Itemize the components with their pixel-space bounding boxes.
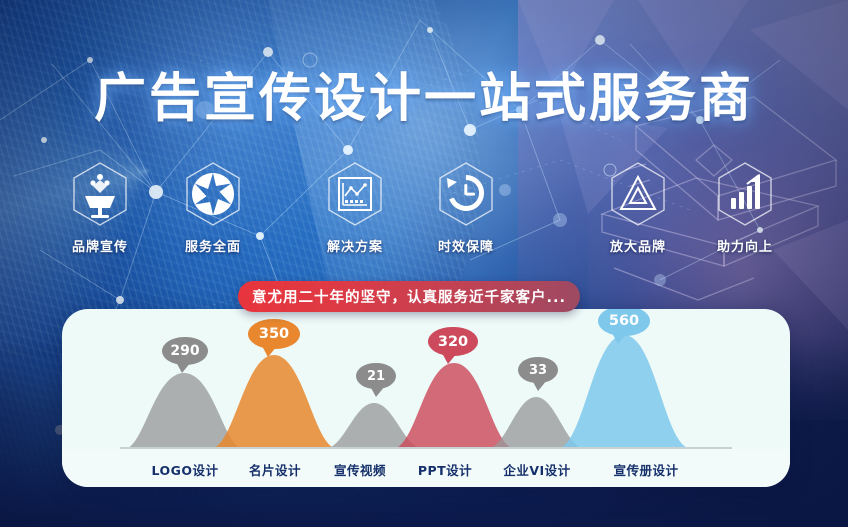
clock-history-icon [435, 160, 497, 228]
area-3 [392, 363, 516, 449]
feature-item-full-service[interactable]: 服务全面 [158, 160, 268, 255]
bar-growth-icon [714, 160, 776, 228]
feature-label: 品牌宣传 [45, 236, 155, 255]
area-5 [556, 335, 692, 449]
feature-label: 解决方案 [300, 236, 410, 255]
value-bubble-0: 290 [162, 337, 208, 365]
feature-item-growth-support[interactable]: 助力向上 [690, 160, 800, 255]
value-bubble-2: 21 [356, 363, 396, 389]
aperture-icon [182, 160, 244, 228]
feature-item-timeliness[interactable]: 时效保障 [411, 160, 521, 255]
feature-row: 品牌宣传 服务全面 [0, 160, 848, 250]
category-label-5: 宣传册设计 [586, 460, 706, 479]
area-1 [210, 355, 338, 449]
feature-item-amplify-brand[interactable]: 放大品牌 [583, 160, 693, 255]
category-label-0: LOGO设计 [140, 460, 230, 479]
line-chart-icon [324, 160, 386, 228]
feature-label: 服务全面 [158, 236, 268, 255]
page-title: 广告宣传设计一站式服务商 [0, 56, 848, 131]
value-bubble-3: 320 [428, 327, 478, 356]
category-label-2: 宣传视频 [315, 460, 405, 479]
feature-item-brand-promotion[interactable]: 品牌宣传 [45, 160, 155, 255]
category-label-strip: LOGO设计 名片设计 宣传视频 PPT设计 企业VI设计 宣传册设计 [62, 449, 790, 487]
feature-label: 助力向上 [690, 236, 800, 255]
triangle-icon [607, 160, 669, 228]
value-bubble-1: 350 [248, 319, 300, 349]
value-bubble-4: 33 [518, 357, 558, 383]
category-label-3: PPT设计 [400, 460, 490, 479]
feature-label: 时效保障 [411, 236, 521, 255]
chart-card: 290 350 21 320 33 560 LOGO设计 名片设计 宣传视频 P… [62, 309, 790, 487]
bell-curve-areas [62, 309, 790, 451]
promo-poster: 广告宣传设计一站式服务商 品牌宣传 [0, 0, 848, 527]
slogan-banner: 意尤用二十年的坚守，认真服务近千家客户... [238, 281, 580, 312]
broadcast-icon [69, 160, 131, 228]
category-label-1: 名片设计 [230, 460, 320, 479]
feature-label: 放大品牌 [583, 236, 693, 255]
slogan-text: 意尤用二十年的坚守，认真服务近千家客户... [252, 286, 566, 307]
chart-canvas: 290 350 21 320 33 560 [62, 309, 790, 449]
category-label-4: 企业VI设计 [482, 460, 592, 479]
feature-item-solution[interactable]: 解决方案 [300, 160, 410, 255]
